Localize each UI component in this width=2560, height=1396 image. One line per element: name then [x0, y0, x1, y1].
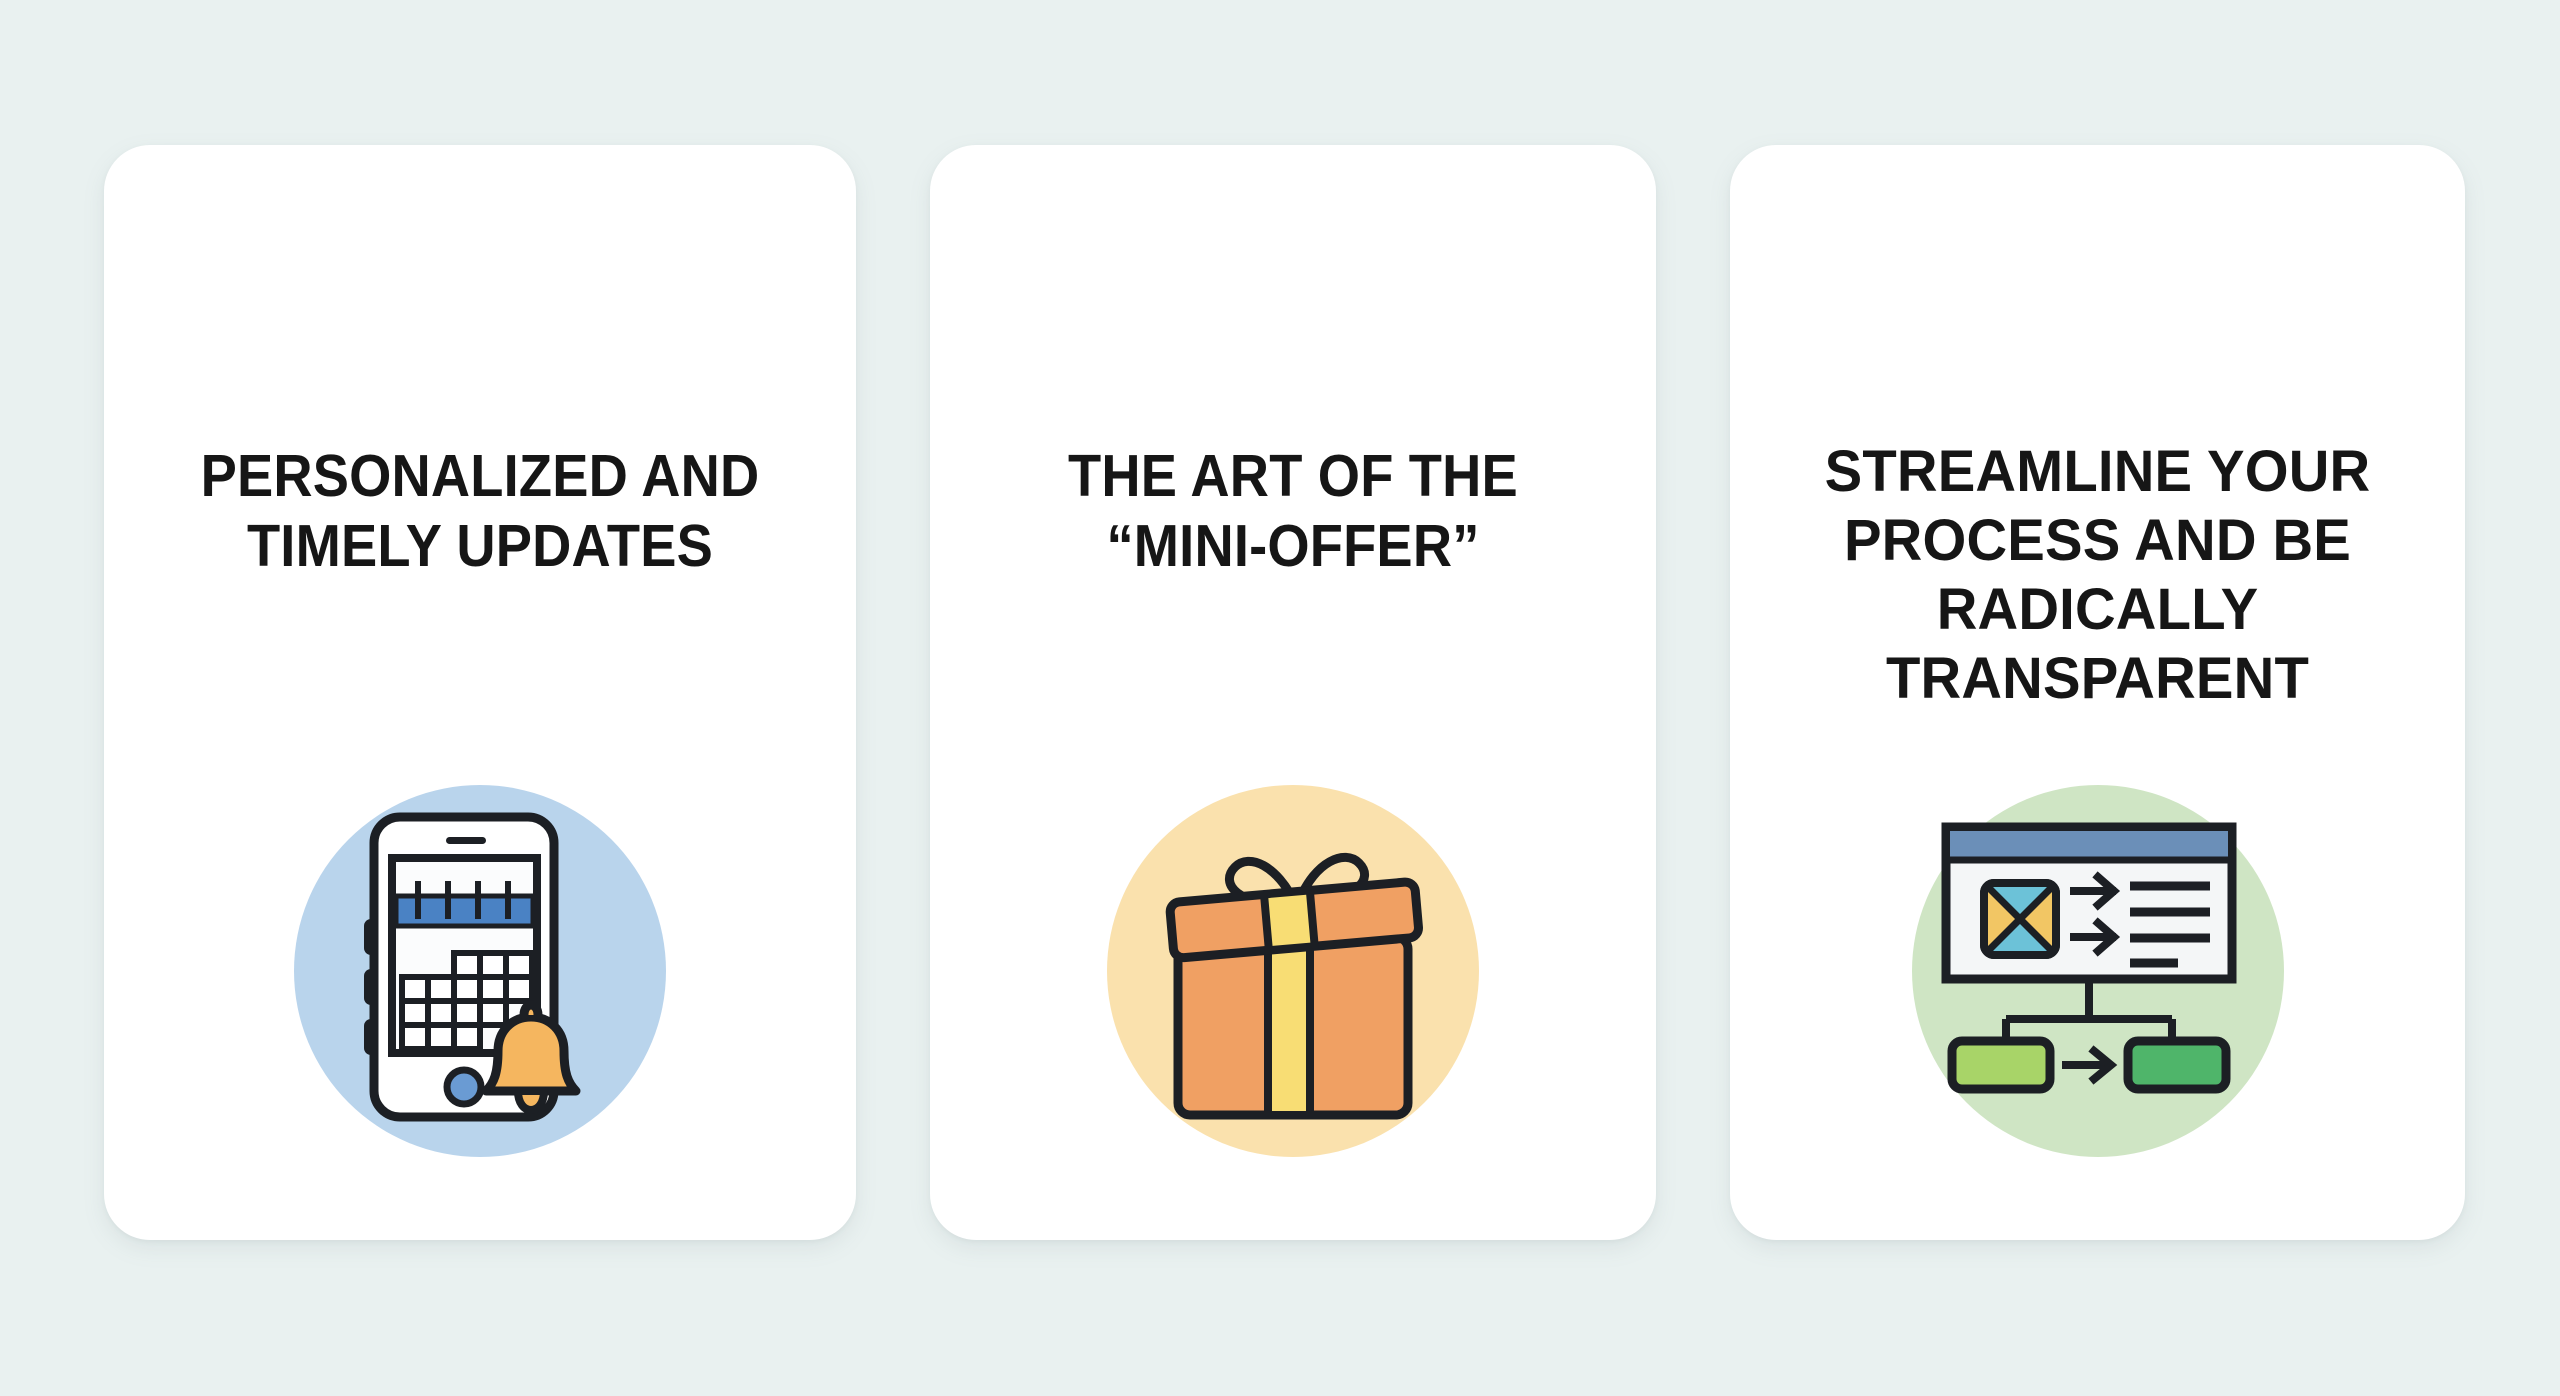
- phone-calendar-bell-icon: [250, 741, 710, 1201]
- card-title: PERSONALIZED AND TIMELY UPDATES: [134, 441, 826, 581]
- slide-canvas: PERSONALIZED AND TIMELY UPDATES: [0, 0, 2560, 1396]
- card-personalized-updates[interactable]: PERSONALIZED AND TIMELY UPDATES: [104, 145, 856, 1240]
- gift-box-icon: [1063, 741, 1523, 1201]
- card-row: PERSONALIZED AND TIMELY UPDATES: [0, 0, 2560, 1396]
- card-streamline-process[interactable]: STREAMLINE YOUR PROCESS AND BE RADICALLY…: [1730, 145, 2465, 1240]
- card-title: STREAMLINE YOUR PROCESS AND BE RADICALLY…: [1741, 437, 2454, 713]
- card-mini-offer[interactable]: THE ART OF THE “MINI-OFFER”: [930, 145, 1656, 1240]
- card-title: THE ART OF THE “MINI-OFFER”: [959, 441, 1627, 581]
- workflow-diagram-icon: [1868, 741, 2328, 1201]
